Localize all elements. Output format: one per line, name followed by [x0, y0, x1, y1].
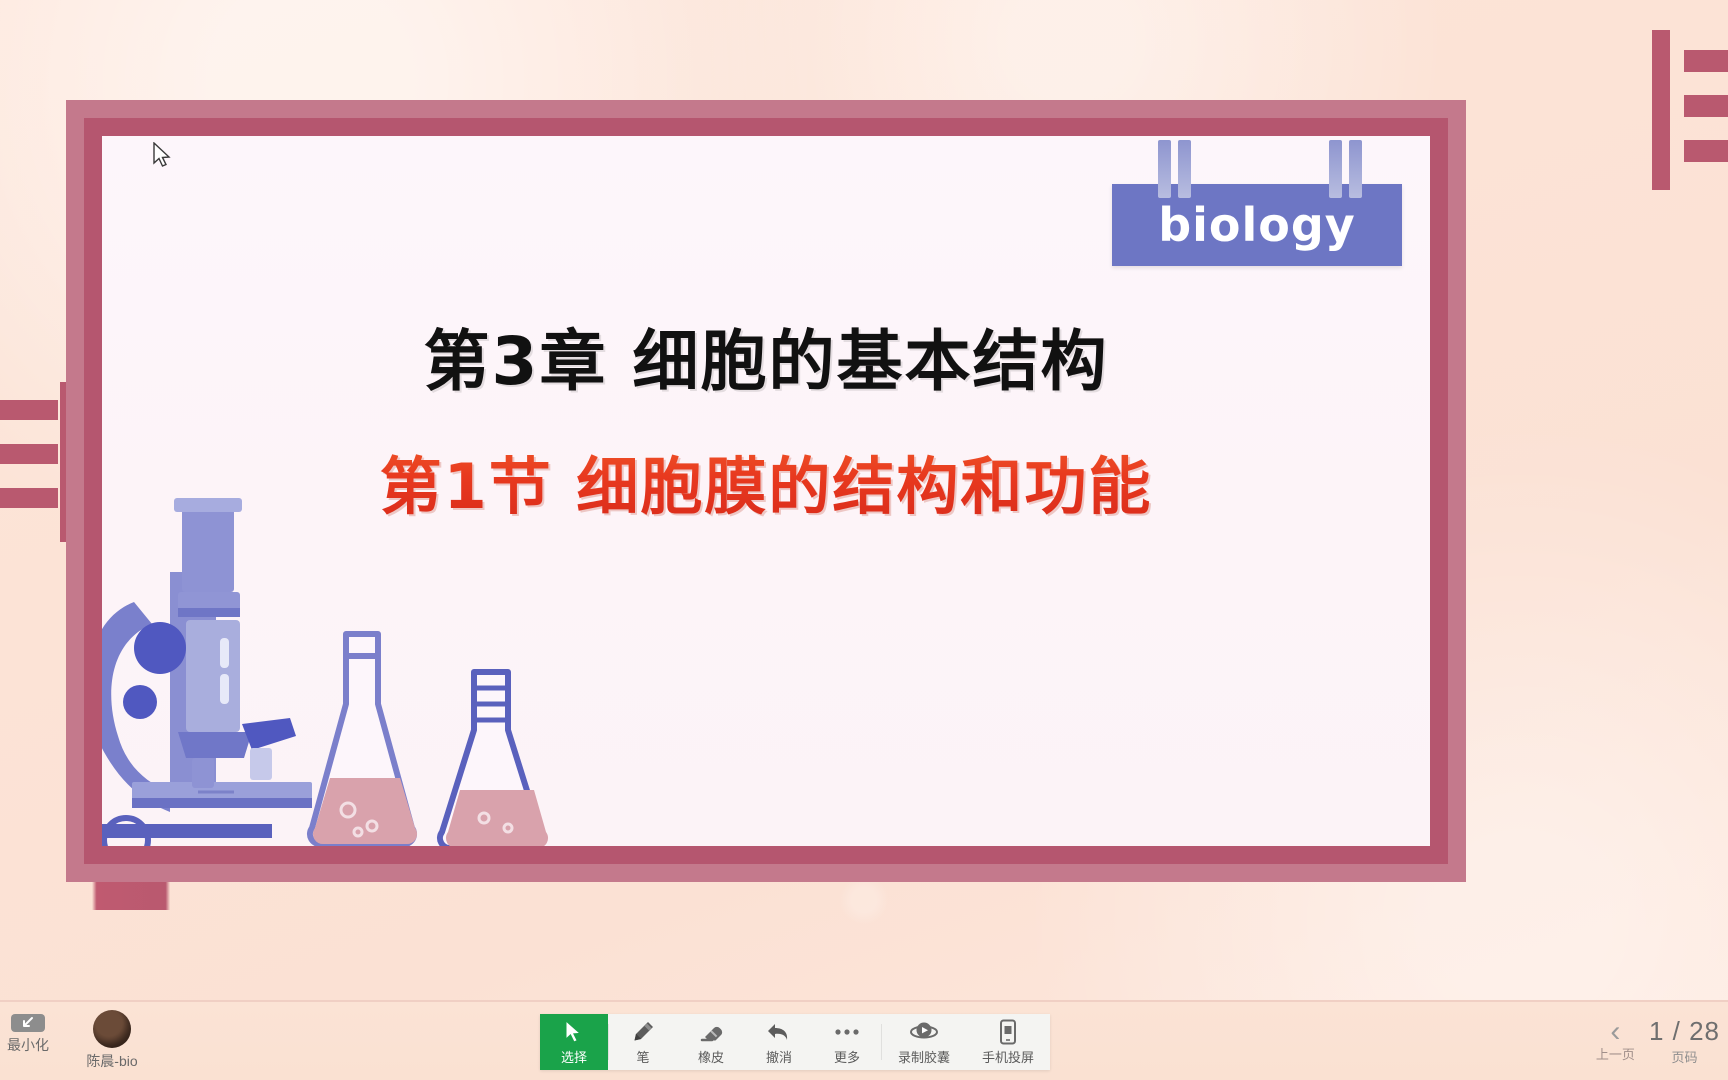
erlenmeyer-flask-small: [432, 666, 552, 846]
tool-phone-cast[interactable]: 手机投屏: [966, 1014, 1050, 1070]
tool-pen-label: 笔: [636, 1047, 649, 1066]
page-counter-label: 页码: [1671, 1047, 1697, 1066]
page-indicator: 1 / 28 页码: [1649, 1016, 1720, 1066]
record-capsule-icon: [910, 1019, 938, 1045]
banner-strap-icon: [1329, 140, 1342, 198]
tool-pen[interactable]: 笔: [609, 1014, 677, 1070]
bottom-toolbar: 最小化 陈晨-bio 选择 笔: [0, 1000, 1728, 1080]
pen-icon: [630, 1019, 656, 1045]
tool-select-label: 选择: [561, 1047, 587, 1066]
tool-eraser[interactable]: 橡皮: [677, 1014, 745, 1070]
mouse-cursor: [152, 142, 174, 170]
page-navigation: ‹ 上一页 1 / 28 页码: [1596, 1012, 1720, 1070]
slide-canvas[interactable]: biology 第3章 细胞的基本结构 第1节 细胞膜的结构和功能: [102, 136, 1430, 846]
biology-banner: biology: [1112, 184, 1402, 266]
tool-select[interactable]: 选择: [540, 1014, 608, 1070]
prev-page-button[interactable]: ‹ 上一页: [1596, 1020, 1635, 1063]
tool-more[interactable]: 更多: [813, 1014, 881, 1070]
chevron-left-icon: ‹: [1610, 1020, 1620, 1044]
avatar: [93, 1010, 131, 1048]
annotation-toolbar: 选择 笔 橡皮: [540, 1014, 1050, 1070]
tool-undo-label: 撤消: [766, 1047, 792, 1066]
banner-strap-icon: [1178, 140, 1191, 198]
decoration-bar: [1684, 95, 1728, 117]
decoration-bar: [1684, 140, 1728, 162]
user-name-label: 陈晨-bio: [86, 1051, 137, 1071]
decoration-bar: [0, 488, 58, 508]
tool-phone-cast-label: 手机投屏: [982, 1047, 1034, 1066]
minimize-arrow-icon: [11, 1014, 45, 1032]
minimize-button[interactable]: 最小化: [2, 1014, 54, 1054]
tool-more-label: 更多: [834, 1047, 860, 1066]
banner-strap-icon: [1158, 140, 1171, 198]
tool-record-capsule-label: 录制胶囊: [898, 1047, 950, 1066]
decoration-bar: [0, 400, 58, 420]
slide-frame-outer: biology 第3章 细胞的基本结构 第1节 细胞膜的结构和功能: [66, 100, 1466, 882]
page-counter: 1 / 28: [1649, 1016, 1720, 1047]
microscope-illustration: [102, 452, 334, 846]
decoration-bar: [1684, 50, 1728, 72]
erlenmeyer-flask-large: [302, 626, 422, 846]
cursor-arrow-icon: [563, 1019, 585, 1045]
minimize-label: 最小化: [7, 1035, 49, 1055]
tool-record-capsule[interactable]: 录制胶囊: [882, 1014, 966, 1070]
tool-undo[interactable]: 撤消: [745, 1014, 813, 1070]
banner-strap-icon: [1349, 140, 1362, 198]
chapter-title: 第3章 细胞的基本结构: [102, 308, 1430, 404]
decoration-bars-right: [1628, 50, 1728, 170]
biology-banner-label: biology: [1158, 198, 1356, 252]
tool-eraser-label: 橡皮: [698, 1047, 724, 1066]
slide-frame-inner: biology 第3章 细胞的基本结构 第1节 细胞膜的结构和功能: [84, 118, 1448, 864]
undo-arrow-icon: [766, 1019, 792, 1045]
decoration-bar: [0, 444, 58, 464]
eraser-icon: [698, 1019, 724, 1045]
ellipsis-icon: [833, 1019, 861, 1045]
prev-page-label: 上一页: [1596, 1044, 1635, 1063]
phone-cast-icon: [997, 1019, 1019, 1045]
user-avatar-block[interactable]: 陈晨-bio: [72, 1010, 152, 1071]
